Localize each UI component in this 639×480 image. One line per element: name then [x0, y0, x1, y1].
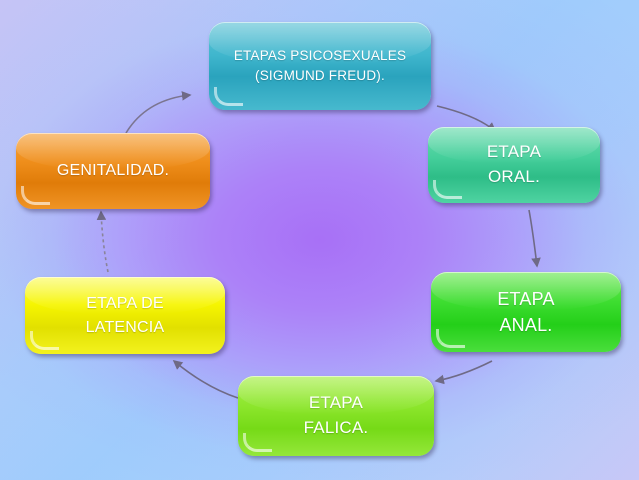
- arrow-latencia-to-genitalidad: [101, 212, 108, 272]
- etapa-de-latencia-node[interactable]: ETAPA DE LATENCIA: [25, 277, 225, 354]
- etapa-anal-node[interactable]: ETAPA ANAL.: [431, 272, 621, 352]
- corner-arc-highlight: [243, 433, 272, 452]
- genitalidad-node-label: GENITALIDAD.: [51, 159, 175, 182]
- etapa-falica-node[interactable]: ETAPA FALICA.: [238, 376, 434, 456]
- corner-arc-highlight: [433, 180, 462, 199]
- slide-canvas: ETAPAS PSICOSEXUALES (SIGMUND FREUD). ET…: [0, 0, 639, 480]
- corner-arc-highlight: [21, 186, 50, 205]
- corner-arc-highlight: [30, 331, 59, 350]
- oral-node-label: ETAPA ORAL.: [481, 140, 547, 189]
- etapas-psicosexuales-title-node[interactable]: ETAPAS PSICOSEXUALES (SIGMUND FREUD).: [209, 22, 431, 110]
- corner-arc-highlight: [436, 329, 465, 348]
- corner-arc-highlight: [214, 87, 243, 106]
- arrow-oral-to-anal: [529, 210, 537, 266]
- arrow-falica-to-latencia: [174, 361, 238, 398]
- arrow-genitalidad-to-title: [126, 95, 190, 133]
- arrow-anal-to-falica: [436, 361, 492, 381]
- latencia-node-label: ETAPA DE LATENCIA: [80, 292, 171, 338]
- genitalidad-node[interactable]: GENITALIDAD.: [16, 133, 210, 209]
- etapa-oral-node[interactable]: ETAPA ORAL.: [428, 127, 600, 203]
- falica-node-label: ETAPA FALICA.: [298, 391, 375, 440]
- anal-node-label: ETAPA ANAL.: [491, 286, 560, 338]
- title-node-label: ETAPAS PSICOSEXUALES (SIGMUND FREUD).: [228, 46, 412, 85]
